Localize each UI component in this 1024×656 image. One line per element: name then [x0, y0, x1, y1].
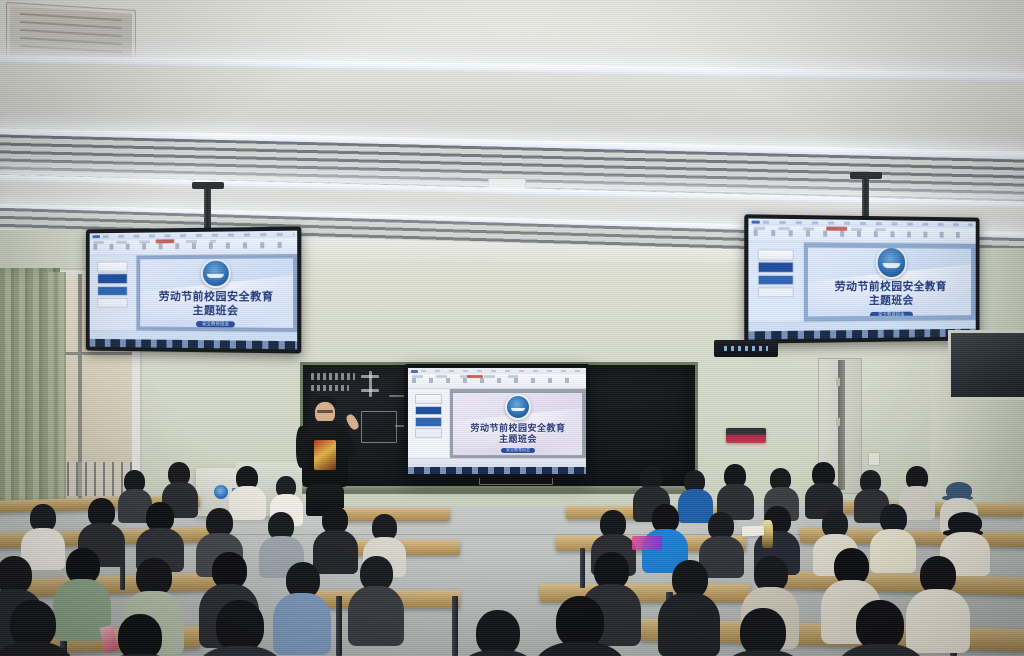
slide-title: 劳动节前校园安全教育 主题班会: [159, 291, 274, 319]
slide-title-line-1: 劳动节前校园安全教育: [470, 423, 565, 434]
slide-title-line-2: 主题班会: [159, 305, 274, 319]
slide-thumbnail[interactable]: [98, 262, 128, 272]
paper-sheet: [742, 525, 764, 536]
ppt-ribbon-icons[interactable]: [94, 242, 293, 250]
tv-right[interactable]: 劳动节前校园安全教育 主题班会 安全教育班会: [744, 214, 979, 343]
ppt-slide-stage: 劳动节前校园安全教育 主题班会 安全教育班会: [137, 254, 298, 332]
slide-thumbnail[interactable]: [98, 274, 128, 284]
ppt-slide-thumbnail-pane[interactable]: [748, 242, 803, 321]
wall-mounted-red-fixture: [726, 428, 766, 443]
windows-taskbar[interactable]: [748, 328, 975, 339]
ppt-ribbon-icons[interactable]: [412, 378, 583, 384]
door-hinge: [836, 418, 840, 426]
classroom-photo: 劳动节前校园安全教育 主题班会 安全教育班会: [0, 0, 1024, 656]
ppt-ribbon[interactable]: [748, 226, 975, 245]
exterior-balcony-railing: [58, 462, 132, 496]
ppt-body: 劳动节前校园安全教育 主题班会 安全教育班会: [90, 254, 298, 332]
university-emblem: [505, 394, 531, 420]
left-curtain-secondary: [44, 272, 66, 522]
powerpoint-window: 劳动节前校园安全教育 主题班会 安全教育班会: [748, 218, 975, 339]
tv-right-screen: 劳动节前校园安全教育 主题班会 安全教育班会: [748, 218, 975, 339]
desk-leg: [336, 596, 342, 656]
desk-leg: [452, 596, 458, 656]
ppt-ribbon[interactable]: [408, 374, 586, 389]
chalk-diagram-box: [361, 411, 397, 443]
slide-cta-button: 安全教育班会: [501, 448, 535, 454]
tv-left[interactable]: 劳动节前校园安全教育 主题班会 安全教育班会: [86, 226, 301, 353]
slide-canvas: 劳动节前校园安全教育 主题班会 安全教育班会: [453, 393, 582, 455]
ceiling-upper-plane: [0, 0, 1024, 64]
slide-thumbnail[interactable]: [415, 417, 442, 427]
ppt-body: 劳动节前校园安全教育 主题班会 安全教育班会: [748, 242, 975, 321]
slide-thumbnail[interactable]: [98, 286, 128, 296]
led-notice-sign: [714, 340, 778, 357]
slide-cta-label: 安全教育班会: [202, 321, 229, 327]
slide-canvas: 劳动节前校园安全教育 主题班会 安全教育班会: [141, 259, 293, 328]
presenter: [292, 396, 358, 516]
slide-thumbnail[interactable]: [415, 406, 442, 416]
slide-title: 劳动节前校园安全教育 主题班会: [470, 423, 565, 446]
led-sign-text: [724, 346, 769, 352]
slide-cta-button: 安全教育班会: [870, 311, 912, 316]
slide-thumbnail[interactable]: [98, 297, 128, 307]
tv-right-mount-plate: [850, 172, 882, 179]
slide-thumbnail[interactable]: [758, 262, 793, 273]
tv-left-screen: 劳动节前校园安全教育 主题班会 安全教育班会: [90, 231, 298, 350]
university-emblem: [876, 248, 908, 279]
university-emblem: [201, 259, 231, 289]
ppt-ribbon-icons[interactable]: [753, 230, 971, 238]
smart-display-panel[interactable]: 劳动节前校园安全教育 主题班会 安全教育班会: [404, 364, 590, 478]
slide-thumbnail[interactable]: [415, 394, 442, 404]
presenter-left-arm: [296, 426, 309, 468]
chalk-writing: [311, 373, 355, 380]
slide-thumbnail[interactable]: [415, 428, 442, 438]
light-switch-plate[interactable]: [868, 452, 880, 466]
slide-title-line-2: 主题班会: [470, 434, 565, 445]
slide-cta-button: 安全教育班会: [196, 321, 236, 327]
slide-thumbnail[interactable]: [758, 250, 793, 261]
presenter-shirt-graphic: [314, 440, 336, 470]
windows-taskbar[interactable]: [90, 339, 298, 350]
slide-title-line-2: 主题班会: [835, 295, 947, 309]
chalk-writing: [361, 375, 379, 378]
chalk-writing: [361, 389, 379, 392]
panel-screen: 劳动节前校园安全教育 主题班会 安全教育班会: [408, 368, 586, 474]
slide-cta-label: 安全教育班会: [878, 311, 904, 316]
ppt-status-bar[interactable]: [408, 458, 586, 466]
ppt-slide-thumbnail-pane[interactable]: [408, 389, 450, 458]
shirt-print-graphic: [632, 536, 662, 550]
desk-leg: [580, 548, 585, 588]
podium-logo-icon: [214, 485, 228, 499]
slide-thumbnail[interactable]: [758, 287, 793, 298]
ppt-body: 劳动节前校园安全教育 主题班会 安全教育班会: [408, 389, 586, 458]
chalk-writing: [311, 385, 349, 391]
baseball-cap: [948, 512, 982, 534]
slide-cta-label: 安全教育班会: [506, 447, 530, 453]
slide-canvas: 劳动节前校园安全教育 主题班会 安全教育班会: [808, 248, 971, 317]
slide-title-line-1: 劳动节前校园安全教育: [835, 281, 947, 295]
tv-right-mount-arm: [862, 176, 869, 220]
door-hinge: [836, 378, 840, 386]
powerpoint-window: 劳动节前校园安全教育 主题班会 安全教育班会: [90, 231, 298, 350]
slide-title-line-1: 劳动节前校园安全教育: [159, 291, 274, 305]
powerpoint-window: 劳动节前校园安全教育 主题班会 安全教育班会: [408, 368, 586, 474]
presenter-glasses: [317, 410, 333, 413]
baseball-cap: [946, 482, 972, 499]
ppt-slide-stage: 劳动节前校园安全教育 主题班会 安全教育班会: [804, 243, 976, 321]
tv-left-mount-plate: [192, 182, 224, 189]
ppt-slide-thumbnail-pane[interactable]: [90, 255, 137, 330]
windows-taskbar[interactable]: [408, 467, 586, 474]
right-wall-window: [948, 330, 1024, 400]
window-mullion-horizontal: [58, 352, 132, 355]
ppt-ribbon[interactable]: [90, 238, 298, 256]
ppt-slide-stage: 劳动节前校园安全教育 主题班会 安全教育班会: [450, 389, 586, 458]
slide-thumbnail[interactable]: [758, 274, 793, 284]
slide-title: 劳动节前校园安全教育 主题班会: [835, 281, 947, 309]
